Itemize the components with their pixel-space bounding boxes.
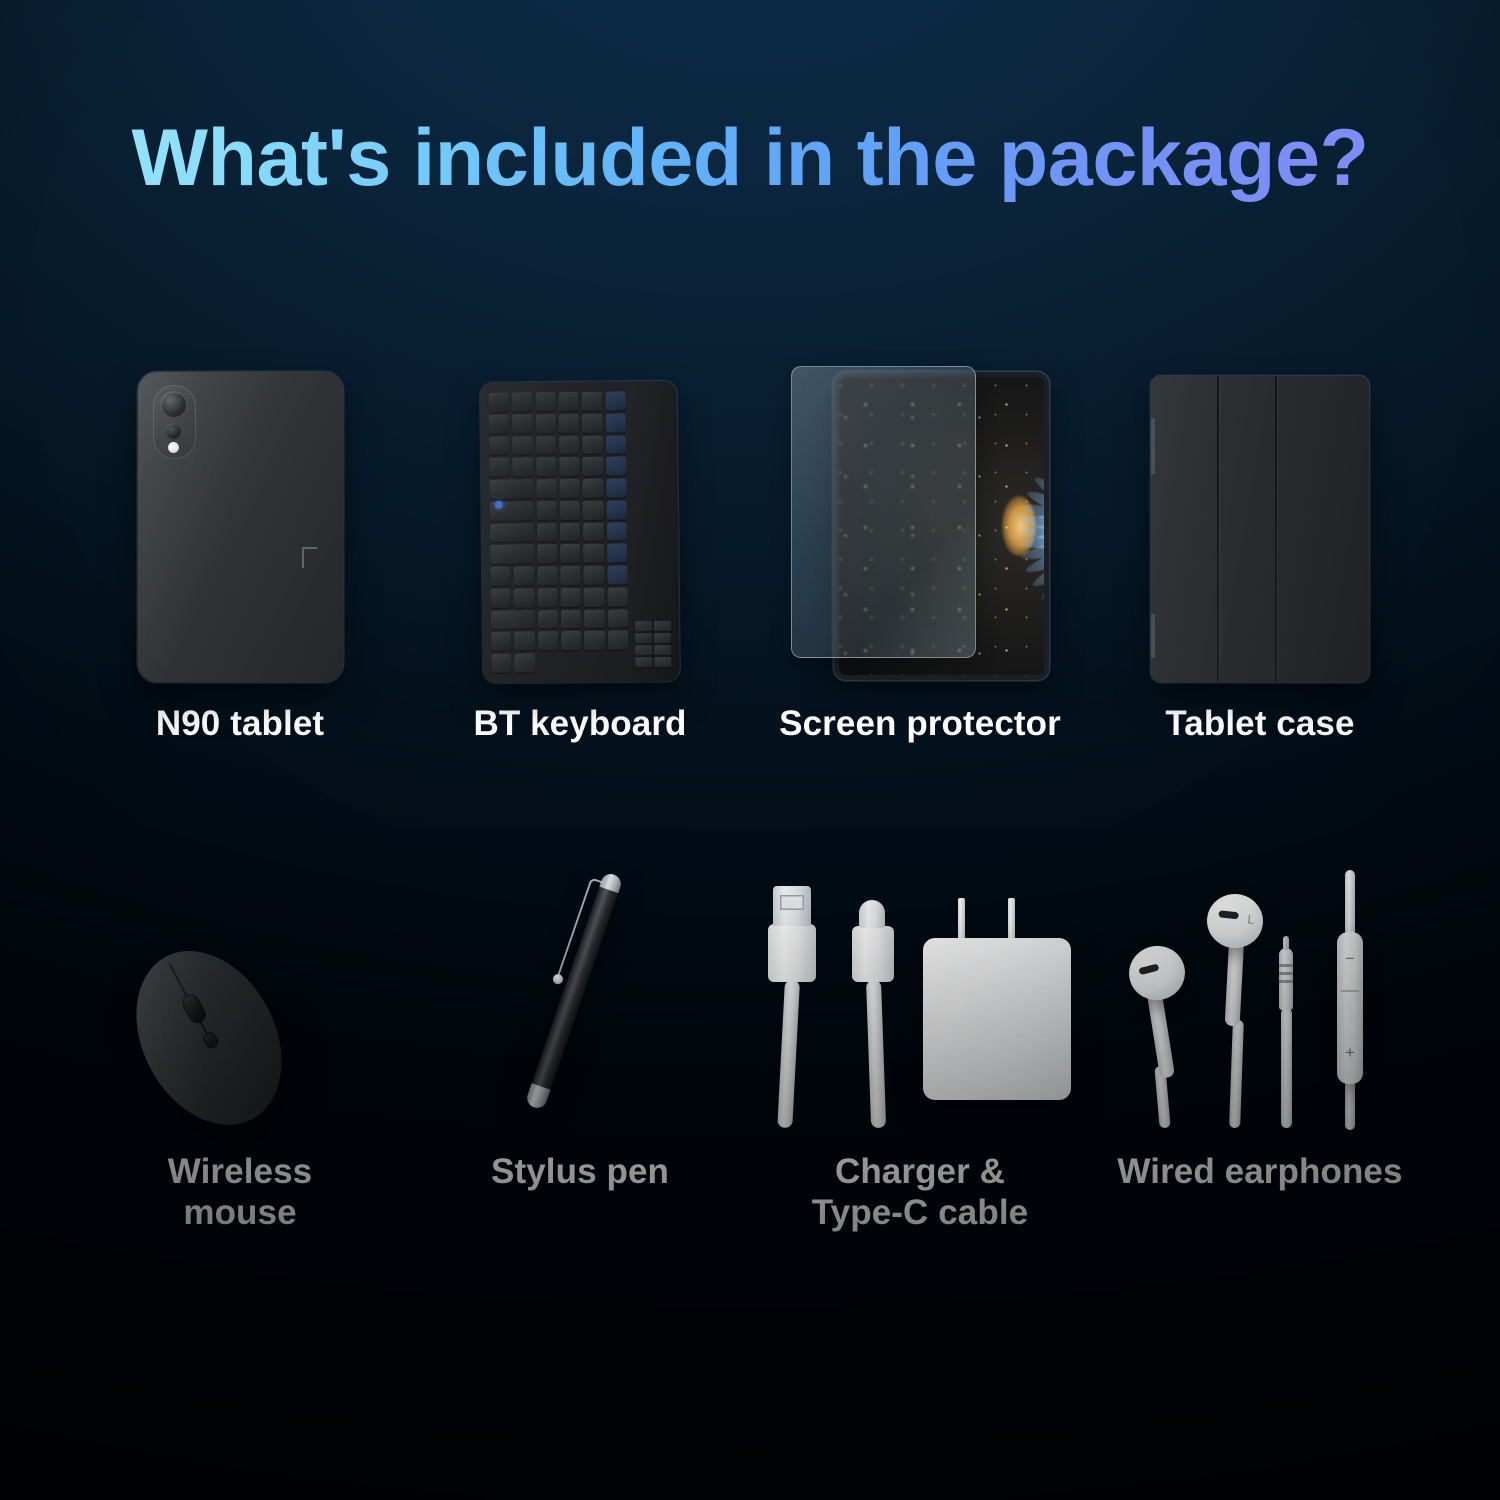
keyboard-key: [514, 567, 535, 586]
keyboard-key: [559, 479, 580, 498]
product-label-charger: Charger & Type-C cable: [812, 1152, 1028, 1233]
product-label-screen-protector: Screen protector: [779, 704, 1061, 745]
charger-brick: [923, 938, 1071, 1100]
keyboard-key: [654, 621, 671, 631]
earbud-left-icon: L: [1204, 891, 1265, 951]
keyboard-key: [635, 621, 652, 631]
inline-remote: − +: [1337, 932, 1363, 1084]
keyboard-key: [489, 480, 533, 499]
keyboard-key: [635, 657, 652, 667]
keyboard-key: [654, 645, 671, 655]
usb-c-connector-icon: [859, 900, 885, 928]
keyboard-key: [605, 392, 626, 411]
keyboard-key: [561, 631, 582, 650]
mouse-button-split: [169, 963, 214, 1045]
keyboard-key: [490, 523, 534, 542]
keyboard-key: [514, 632, 535, 651]
page-title: What's included in the package?: [0, 112, 1500, 205]
keyboard-key: [513, 458, 534, 477]
keyboard-key: [606, 479, 627, 498]
usb-c-cable-cord: [866, 980, 886, 1128]
screen-protector-art: [750, 352, 1090, 682]
product-row-second: Wireless mouse Stylus pen: [70, 860, 1430, 1233]
keyboard-key: [536, 436, 557, 455]
keyboard-icon: [480, 381, 679, 683]
keyboard-key: [512, 392, 533, 411]
volume-up-button-icon: +: [1342, 1044, 1358, 1061]
product-item-keyboard: BT keyboard: [410, 352, 750, 745]
product-label-mouse: Wireless mouse: [168, 1152, 312, 1233]
usb-a-collar: [768, 924, 816, 982]
keyboard-key: [584, 566, 605, 585]
case-fold-line: [1217, 376, 1219, 682]
volume-down-button-icon: −: [1342, 950, 1358, 967]
keyboard-key: [635, 645, 652, 655]
product-item-mouse: Wireless mouse: [70, 860, 410, 1233]
stylus-barrel: [524, 871, 623, 1110]
screen-protector-icon: [791, 366, 1049, 682]
keyboard-key: [537, 545, 558, 564]
mouse-body: [108, 926, 311, 1150]
keyboard-key: [560, 501, 581, 520]
keyboard-spacebar: [491, 610, 535, 629]
keyboard-key: [606, 435, 627, 454]
keyboard-key: [654, 657, 671, 667]
keyboard-key: [537, 523, 558, 542]
camera-main-lens-icon: [160, 391, 188, 419]
keyboard-key: [490, 567, 511, 586]
bluetooth-indicator-icon: [495, 501, 503, 509]
tablet-art: [70, 352, 410, 682]
keyboard-key: [560, 566, 581, 585]
jack-cord: [1281, 1008, 1292, 1128]
keyboard-key: [514, 588, 535, 607]
usb-a-connector-icon: [773, 886, 811, 926]
jack-band: [1279, 980, 1293, 983]
keyboard-key: [583, 501, 604, 520]
keyboard-key: [584, 609, 605, 628]
keyboard-arrow-cluster: [635, 621, 671, 667]
keyboard-key: [606, 500, 627, 519]
jack-pin: [1283, 936, 1289, 950]
product-item-charger: Charger & Type-C cable: [750, 860, 1090, 1233]
keyboard-key: [608, 631, 629, 650]
case-edge-tab: [1151, 418, 1155, 474]
product-row-first: N90 tablet: [70, 352, 1430, 745]
keyboard-key: [535, 414, 556, 433]
earphones-icon: L − +: [1115, 870, 1405, 1130]
mouse-icon: [125, 930, 355, 1130]
keyboard-key: [537, 610, 558, 629]
earbud-right-icon: [1123, 940, 1190, 1006]
keyboard-key-deck: [489, 392, 629, 673]
keyboard-key: [536, 458, 557, 477]
keyboard-key: [561, 588, 582, 607]
keyboard-key: [584, 631, 605, 650]
keyboard-art: [410, 352, 750, 682]
keyboard-key: [607, 587, 628, 606]
product-label-tablet: N90 tablet: [156, 704, 324, 745]
stylus-clip-icon: [555, 877, 603, 985]
stylus-icon: [480, 860, 680, 1130]
keyboard-key: [536, 501, 557, 520]
tablet-case-icon: [1151, 376, 1369, 682]
case-fold-line: [1275, 376, 1277, 682]
case-edge-tab: [1151, 614, 1155, 658]
mouse-dpi-button-icon: [200, 1030, 219, 1051]
keyboard-key: [584, 588, 605, 607]
keyboard-key: [536, 479, 557, 498]
charger-icon: [755, 880, 1085, 1130]
background-vignette: [0, 0, 1500, 1500]
earphone-cord: [1229, 1020, 1244, 1128]
keyboard-key: [607, 609, 628, 628]
camera-module-icon: [153, 385, 196, 459]
keyboard-key: [607, 566, 628, 585]
charger-art: [750, 860, 1090, 1130]
mouse-art: [70, 860, 410, 1130]
jack-band: [1279, 972, 1293, 975]
keyboard-key: [489, 436, 510, 455]
usb-c-collar: [852, 926, 894, 982]
keyboard-key: [535, 392, 556, 411]
earphones-art: L − +: [1090, 860, 1430, 1130]
keyboard-key: [606, 457, 627, 476]
product-item-tablet-case: Tablet case: [1090, 352, 1430, 745]
product-item-screen-protector: Screen protector: [750, 352, 1090, 745]
keyboard-key: [654, 633, 671, 643]
product-item-stylus: Stylus pen: [410, 860, 750, 1233]
jack-band: [1279, 964, 1293, 967]
product-item-earphones: L − +: [1090, 860, 1430, 1233]
earbud-port: [1218, 910, 1239, 919]
keyboard-key: [491, 632, 512, 651]
tablet-icon: [138, 372, 343, 682]
product-label-tablet-case: Tablet case: [1165, 704, 1354, 745]
keyboard-key: [561, 610, 582, 629]
keyboard-key: [512, 436, 533, 455]
keyboard-key: [491, 589, 512, 608]
stylus-art: [410, 860, 750, 1130]
tempered-glass-sheet: [791, 366, 976, 658]
keyboard-key: [489, 415, 510, 434]
keyboard-key: [607, 522, 628, 541]
stylus-tip-icon: [524, 1083, 550, 1110]
keyboard-key: [582, 392, 603, 411]
brand-mark-icon: [302, 547, 317, 568]
keyboard-key: [538, 632, 559, 651]
keyboard-key: [559, 414, 580, 433]
keyboard-key: [559, 457, 580, 476]
keyboard-key: [560, 544, 581, 563]
keyboard-key: [560, 523, 581, 542]
keyboard-key: [559, 436, 580, 455]
camera-flash-icon: [168, 442, 179, 453]
keyboard-key: [491, 654, 512, 673]
keyboard-key: [512, 414, 533, 433]
usb-a-cable-cord: [777, 980, 800, 1129]
keyboard-key: [583, 544, 604, 563]
keyboard-key: [607, 544, 628, 563]
keyboard-key: [559, 392, 580, 411]
product-item-tablet: N90 tablet: [70, 352, 410, 745]
product-label-earphones: Wired earphones: [1117, 1152, 1402, 1193]
keyboard-key: [583, 457, 604, 476]
keyboard-key: [489, 393, 510, 412]
mouse-scroll-wheel-icon: [179, 992, 208, 1026]
keyboard-key: [515, 654, 536, 673]
keyboard-key: [537, 566, 558, 585]
keyboard-key: [605, 413, 626, 432]
keyboard-key: [489, 458, 510, 477]
keyboard-key: [582, 414, 603, 433]
keyboard-key: [537, 588, 558, 607]
earbud-left-marking: L: [1247, 912, 1255, 927]
earbud-port: [1138, 964, 1159, 976]
remote-center-button-icon: [1341, 990, 1359, 992]
camera-secondary-lens-icon: [165, 423, 182, 440]
package-contents-infographic: What's included in the package? N90 tabl…: [0, 0, 1500, 1500]
audio-jack-icon: [1279, 948, 1293, 1010]
charger-prong-icon: [1008, 898, 1015, 940]
keyboard-key: [635, 633, 652, 643]
keyboard-key: [583, 522, 604, 541]
charger-prong-icon: [958, 898, 965, 940]
keyboard-key: [583, 479, 604, 498]
remote-cord-lower: [1345, 1080, 1355, 1130]
product-label-keyboard: BT keyboard: [473, 704, 686, 745]
keyboard-key: [582, 435, 603, 454]
remote-cord-upper: [1345, 870, 1355, 936]
tablet-case-art: [1090, 352, 1430, 682]
keyboard-key: [490, 545, 534, 564]
product-label-stylus: Stylus pen: [491, 1152, 669, 1193]
